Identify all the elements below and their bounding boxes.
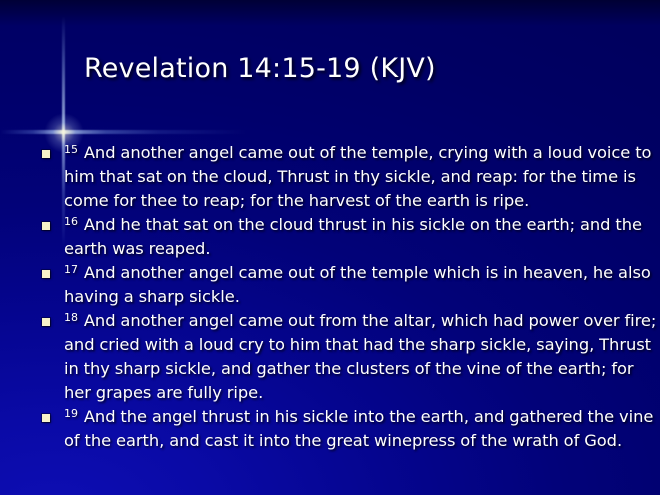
list-item: 15 And another angel came out of the tem… <box>0 141 660 213</box>
verse-number: 18 <box>64 311 79 324</box>
verse-text: And another angel came out of the temple… <box>64 143 651 210</box>
verse-number: 16 <box>64 215 79 228</box>
list-item: 19 And the angel thrust in his sickle in… <box>0 405 660 453</box>
slide-body: 15 And another angel came out of the tem… <box>0 141 660 453</box>
verse-text: And he that sat on the cloud thrust in h… <box>64 215 642 258</box>
bullet-text: 16 And he that sat on the cloud thrust i… <box>64 213 660 261</box>
presentation-slide: Revelation 14:15-19 (KJV) 15 And another… <box>0 0 660 495</box>
verse-text: And the angel thrust in his sickle into … <box>64 407 653 450</box>
list-item: 17 And another angel came out of the tem… <box>0 261 660 309</box>
verse-number: 19 <box>64 407 79 420</box>
bullet-text: 19 And the angel thrust in his sickle in… <box>64 405 660 453</box>
bullet-text: 17 And another angel came out of the tem… <box>64 261 660 309</box>
verse-number: 17 <box>64 263 79 276</box>
slide-background-top-shade <box>0 0 660 26</box>
square-bullet-icon <box>42 414 50 422</box>
list-item: 16 And he that sat on the cloud thrust i… <box>0 213 660 261</box>
bullet-text: 15 And another angel came out of the tem… <box>64 141 660 213</box>
slide-title: Revelation 14:15-19 (KJV) <box>84 53 436 85</box>
cross-horizontal-beam-icon <box>0 130 330 134</box>
verse-text: And another angel came out of the temple… <box>64 263 651 306</box>
verse-text: And another angel came out from the alta… <box>64 311 656 402</box>
square-bullet-icon <box>42 270 50 278</box>
square-bullet-icon <box>42 150 50 158</box>
verse-number: 15 <box>64 143 79 156</box>
square-bullet-icon <box>42 222 50 230</box>
square-bullet-icon <box>42 318 50 326</box>
bullet-text: 18 And another angel came out from the a… <box>64 309 660 405</box>
list-item: 18 And another angel came out from the a… <box>0 309 660 405</box>
